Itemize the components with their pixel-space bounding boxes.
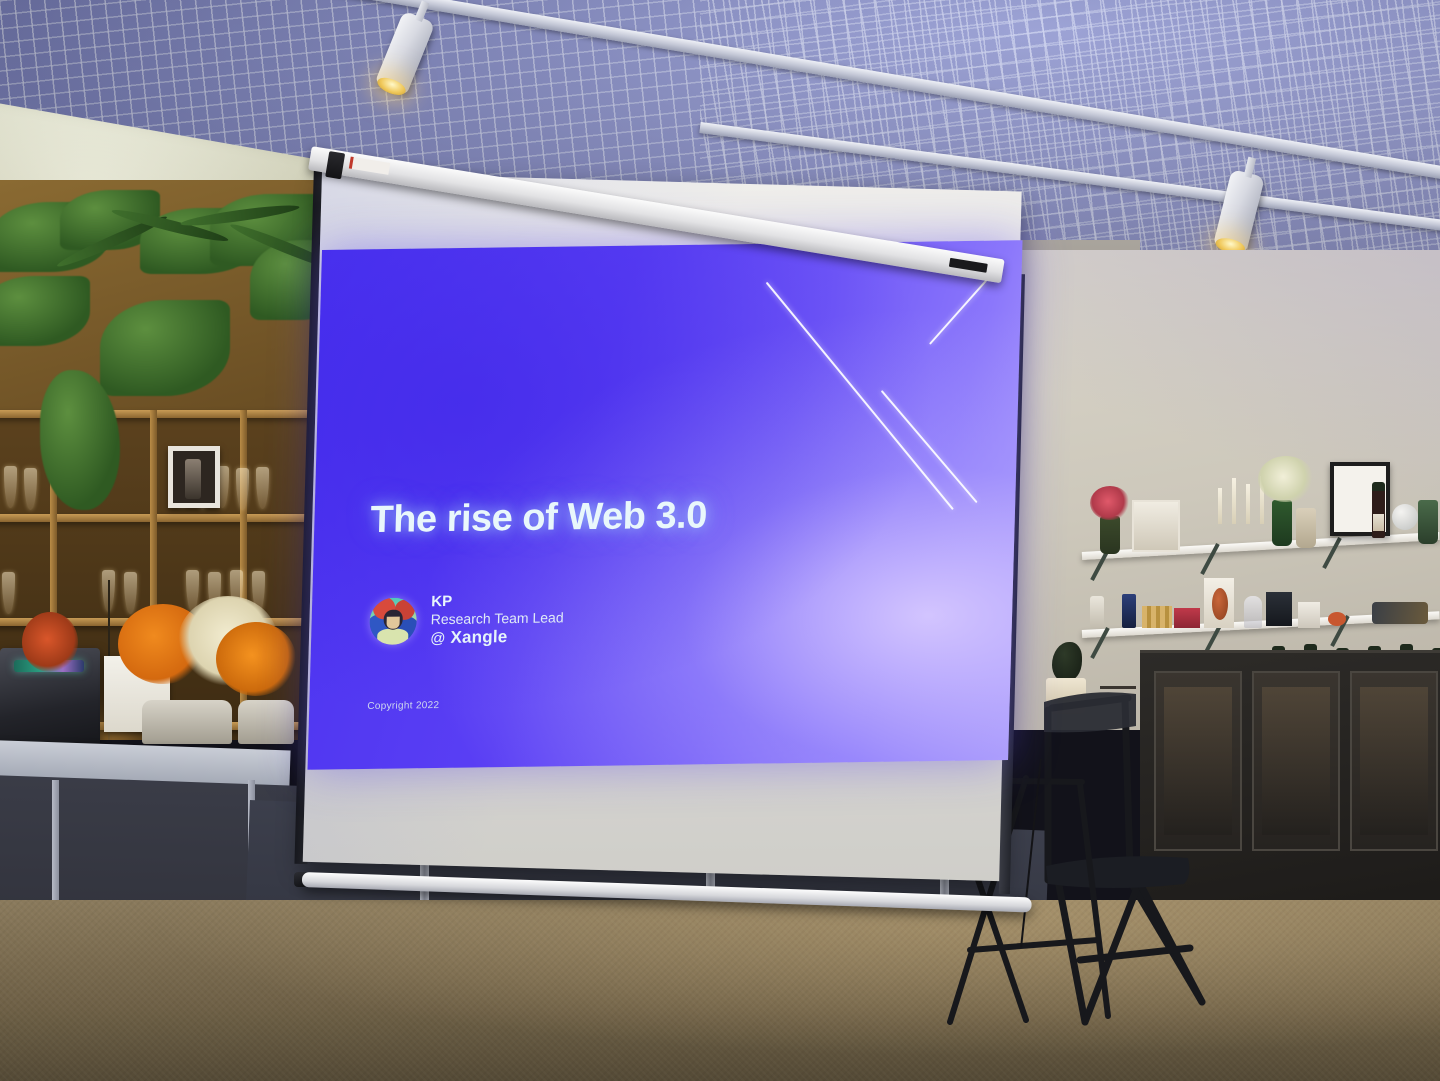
- x-logo-line: [929, 279, 988, 345]
- flower-vase: [1418, 500, 1438, 544]
- blue-bottle: [1122, 594, 1136, 628]
- ceramic-vase: [1296, 508, 1316, 548]
- room-scene: The rise of Web 3.0 KP Research Team Lea…: [0, 0, 1440, 1081]
- cabinet-door[interactable]: [1350, 671, 1438, 851]
- decor-tray: [1372, 602, 1428, 624]
- white-container: [1298, 602, 1320, 628]
- taper-candle: [1232, 478, 1236, 524]
- copyright-text: Copyright 2022: [367, 700, 439, 712]
- avatar-face: [386, 617, 399, 629]
- organization-name: Xangle: [450, 627, 508, 648]
- presenter-role: Research Team Lead: [431, 609, 564, 627]
- x-logo-line: [881, 390, 978, 503]
- small-bowl: [1328, 612, 1346, 626]
- green-bottle-vase: [1272, 500, 1292, 546]
- taper-candle: [1218, 488, 1222, 524]
- red-flowers: [22, 612, 78, 672]
- woven-basket: [1142, 606, 1172, 628]
- lion-art: [1212, 588, 1228, 620]
- glass-orb: [1392, 504, 1418, 530]
- housing-badge: [949, 258, 988, 273]
- presenter-text: KP Research Team Lead @ Xangle: [430, 591, 564, 648]
- hanging-plant: [100, 300, 230, 396]
- avatar-body: [377, 628, 408, 644]
- wine-bottle: [1372, 482, 1385, 538]
- cabinet-door[interactable]: [1252, 671, 1340, 851]
- at-symbol: @: [430, 630, 446, 647]
- spray-bottle: [1090, 596, 1104, 628]
- plant-leaf: [0, 276, 90, 346]
- flower-vase: [1100, 516, 1120, 554]
- x-logo-line: [766, 282, 954, 510]
- white-flowers: [1258, 456, 1314, 502]
- avatar: [369, 597, 417, 645]
- presenter-org-row: @ Xangle: [430, 626, 563, 648]
- arch-tile-art: [1132, 500, 1180, 552]
- slide-title: The rise of Web 3.0: [370, 494, 708, 542]
- framed-photo: [168, 446, 220, 508]
- presenter-block: KP Research Team Lead @ Xangle: [369, 591, 565, 649]
- housing-label: [349, 157, 390, 175]
- projector-screen: The rise of Web 3.0 KP Research Team Lea…: [272, 146, 1034, 906]
- appliance: [142, 700, 232, 744]
- presenter-name: KP: [431, 591, 564, 610]
- pink-flowers: [1090, 486, 1130, 520]
- projected-slide: The rise of Web 3.0 KP Research Team Lea…: [307, 240, 1022, 770]
- housing-bracket: [325, 151, 345, 179]
- taper-candle: [1246, 484, 1250, 524]
- glass-cloche: [1244, 596, 1262, 628]
- xangle-x-logo-icon: [767, 258, 1004, 511]
- dark-box: [1266, 592, 1292, 626]
- red-box: [1174, 608, 1200, 628]
